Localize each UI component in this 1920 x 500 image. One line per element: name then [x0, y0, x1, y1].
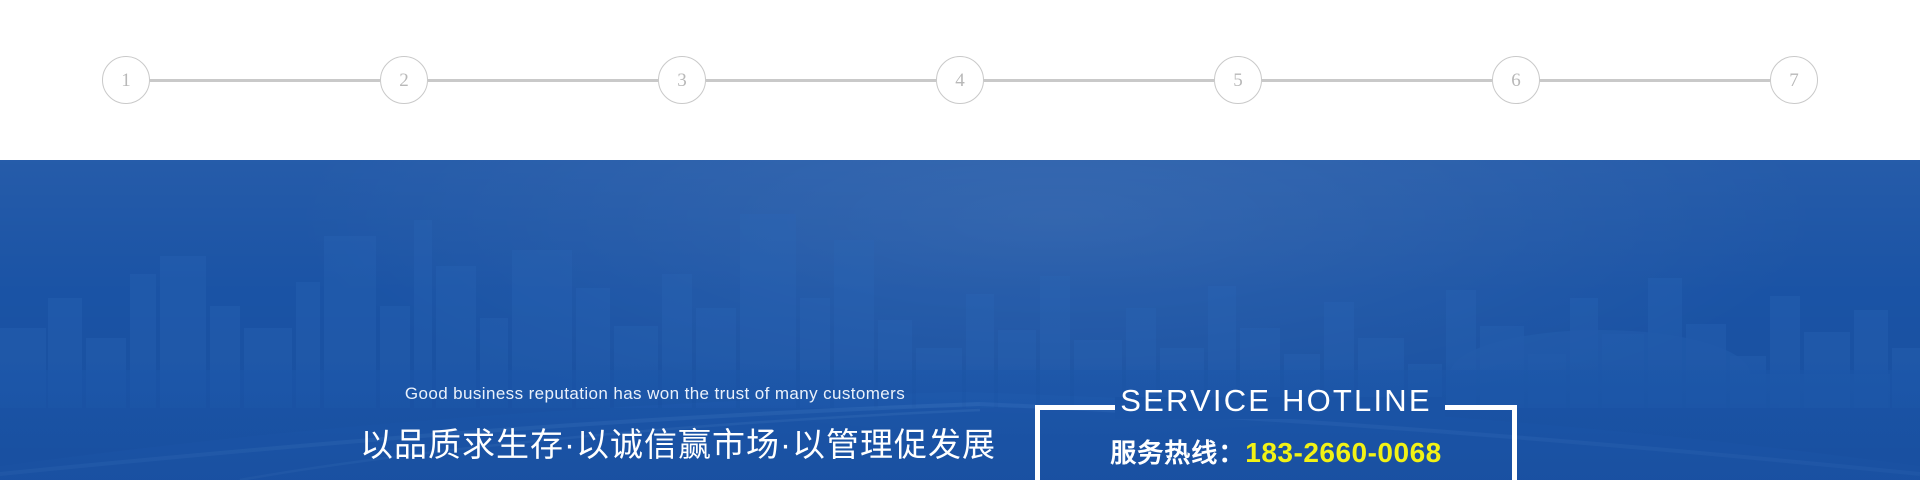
step-node-6[interactable]: 6 — [1492, 56, 1540, 104]
hotline-number-list: 服务热线： 183-2660-0068 0551-63749777 — [1035, 439, 1517, 480]
step-connector-3 — [706, 79, 936, 82]
hotline-phone-primary[interactable]: 183-2660-0068 — [1245, 439, 1441, 467]
step-node-label: 3 — [677, 71, 687, 90]
step-connector-2 — [428, 79, 658, 82]
hotline-title: SERVICE HOTLINE — [1035, 385, 1517, 416]
step-indicator-section: 1 2 3 4 5 6 7 — [0, 0, 1920, 160]
step-connector-5 — [1262, 79, 1492, 82]
promo-banner: Good business reputation has won the tru… — [0, 160, 1920, 480]
step-node-label: 1 — [121, 71, 131, 90]
step-connector-1 — [150, 79, 380, 82]
slogan-english-tagline: Good business reputation has won the tru… — [360, 385, 950, 402]
step-node-7[interactable]: 7 — [1770, 56, 1818, 104]
step-track: 1 2 3 4 5 6 7 — [102, 56, 1818, 104]
hotline-row-primary: 服务热线： 183-2660-0068 — [1035, 439, 1517, 467]
step-node-5[interactable]: 5 — [1214, 56, 1262, 104]
step-indicator: 1 2 3 4 5 6 7 — [0, 0, 1920, 160]
step-connector-4 — [984, 79, 1214, 82]
step-node-2[interactable]: 2 — [380, 56, 428, 104]
step-node-3[interactable]: 3 — [658, 56, 706, 104]
step-node-label: 7 — [1789, 71, 1799, 90]
step-node-label: 6 — [1511, 71, 1521, 90]
step-node-4[interactable]: 4 — [936, 56, 984, 104]
step-connector-6 — [1540, 79, 1770, 82]
step-node-1[interactable]: 1 — [102, 56, 150, 104]
hotline-row-secondary: 0551-63749777 — [1035, 479, 1517, 480]
step-node-label: 5 — [1233, 71, 1243, 90]
hotline-label: 服务热线： — [1110, 440, 1245, 466]
step-node-label: 4 — [955, 71, 965, 90]
service-hotline-box: SERVICE HOTLINE 服务热线： 183-2660-0068 0551… — [1035, 405, 1517, 480]
hotline-phone-secondary[interactable]: 0551-63749777 — [1239, 479, 1442, 480]
slogan-inner: Good business reputation has won the tru… — [360, 385, 950, 480]
slogan-main-headline: 以品质求生存·以诚信赢市场·以管理促发展 — [360, 428, 950, 461]
slogan-block: Good business reputation has won the tru… — [0, 320, 1920, 480]
step-node-label: 2 — [399, 71, 409, 90]
